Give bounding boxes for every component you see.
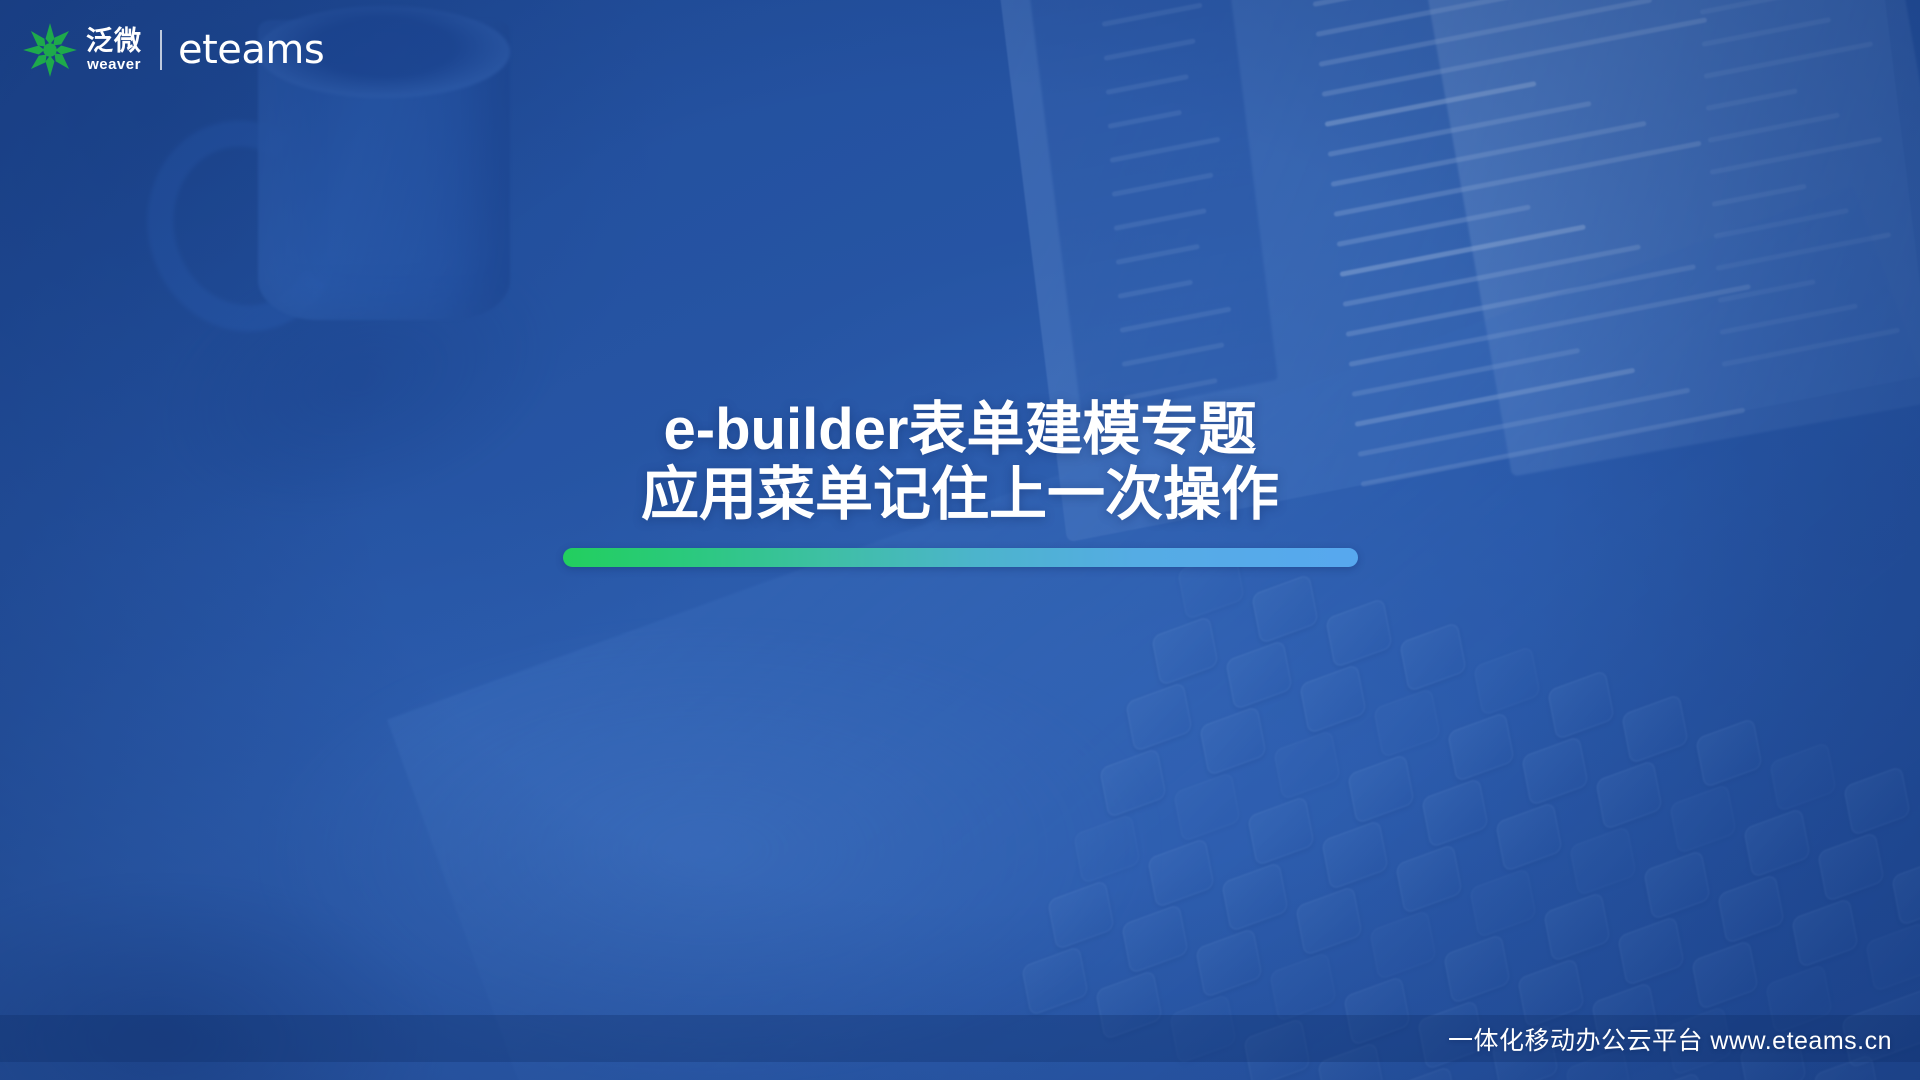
- weaver-star-icon: [20, 22, 80, 78]
- slide-title-line-2: 应用菜单记住上一次操作: [0, 463, 1920, 528]
- weaver-wordmark: 泛微 weaver: [86, 28, 142, 72]
- eteams-wordmark: eteams: [178, 30, 324, 70]
- footer-bar: 一体化移动办公云平台 www.eteams.cn: [0, 1015, 1920, 1062]
- weaver-chinese-name: 泛微: [86, 28, 142, 55]
- logo-divider: [160, 30, 162, 70]
- weaver-latin-name: weaver: [87, 57, 141, 72]
- slide-title-block: e-builder表单建模专题 应用菜单记住上一次操作: [0, 398, 1920, 567]
- presentation-slide: 泛微 weaver eteams e-builder表单建模专题 应用菜单记住上…: [0, 0, 1920, 1080]
- footer-tagline-and-website: 一体化移动办公云平台 www.eteams.cn: [1448, 1021, 1920, 1057]
- slide-title-line-1: e-builder表单建模专题: [0, 398, 1920, 463]
- brand-logo[interactable]: 泛微 weaver eteams: [20, 22, 324, 78]
- title-gradient-underline: [563, 548, 1358, 567]
